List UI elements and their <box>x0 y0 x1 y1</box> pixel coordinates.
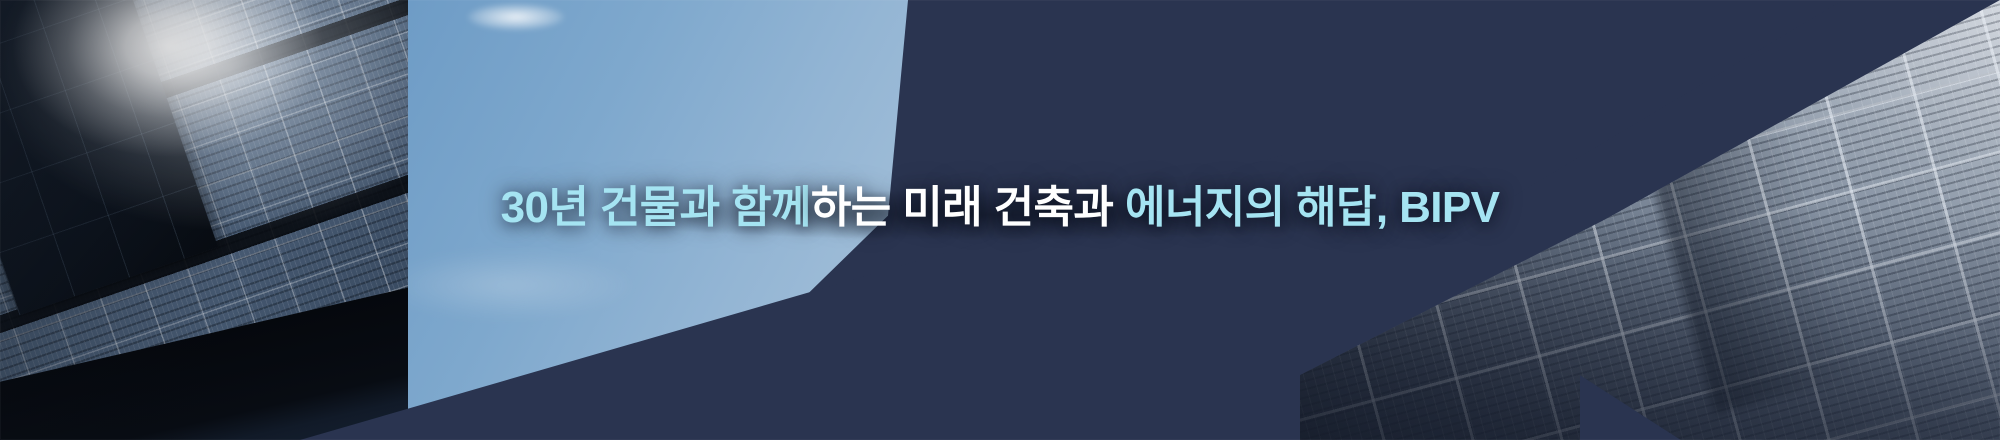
headline-segment-3: 에너지의 해답, BIPV <box>1125 183 1499 232</box>
headline-segment-2: 하는 미래 건축과 <box>811 183 1125 232</box>
headline-segment-1: 30년 건물과 함께 <box>501 183 811 232</box>
page-title: 30년 건물과 함께하는 미래 건축과 에너지의 해답, BIPV <box>0 182 2000 234</box>
bipv-hero-banner: 30년 건물과 함께하는 미래 건축과 에너지의 해답, BIPV <box>0 0 2000 440</box>
cloud-icon <box>468 4 564 30</box>
cloud-haze-icon <box>378 250 638 320</box>
